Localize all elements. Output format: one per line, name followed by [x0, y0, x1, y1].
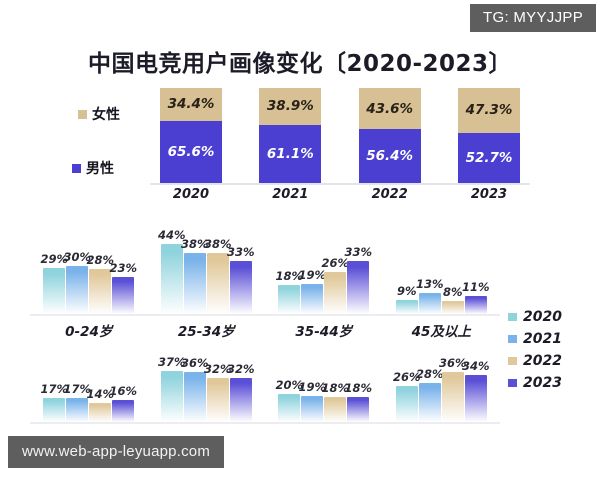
- bar-value-label: 11%: [462, 280, 490, 294]
- stacked-bar-column: 43.6%56.4%: [359, 88, 421, 183]
- year-legend-label: 2023: [523, 375, 562, 391]
- bar-2022: [442, 301, 464, 314]
- bar-slot: 17%: [43, 344, 65, 422]
- bar-2020: [161, 244, 183, 314]
- stacked-axis-line: [150, 183, 530, 185]
- age-x-axis-labels: 0-24岁25-34岁35-44岁45及以上: [30, 320, 500, 340]
- stacked-segment-male: 61.1%: [259, 125, 321, 183]
- year-legend-item-2021: 2021: [508, 328, 562, 350]
- bar-slot: 37%: [161, 344, 183, 422]
- bar-value-label: 23%: [109, 261, 137, 275]
- bar-2023: [112, 400, 134, 422]
- year-color-swatch: [508, 313, 517, 321]
- bar-slot: 20%: [278, 344, 300, 422]
- stacked-bars-area: 34.4%65.6%38.9%61.1%43.6%56.4%47.3%52.7%: [150, 88, 530, 183]
- bar-slot: 13%: [419, 214, 441, 314]
- bar-2022: [89, 269, 111, 314]
- male-color-swatch: [72, 164, 81, 173]
- age-grouped-chart: 29%30%28%23%44%38%38%33%18%19%26%33%9%13…: [30, 214, 500, 339]
- bar-2020: [278, 285, 300, 314]
- stacked-x-label: 2021: [259, 187, 321, 202]
- stacked-x-label: 2020: [160, 187, 222, 202]
- bar-group: 37%36%32%32%: [161, 344, 252, 422]
- stacked-segment-female: 43.6%: [359, 88, 421, 129]
- bar-slot: 23%: [112, 214, 134, 314]
- year-color-swatch: [508, 335, 517, 343]
- bar-2020: [43, 398, 65, 422]
- bar-value-label: 9%: [397, 284, 417, 298]
- bar-group: 9%13%8%11%: [396, 214, 487, 314]
- bar-slot: 44%: [161, 214, 183, 314]
- year-color-swatch: [508, 357, 517, 365]
- group-x-label: 25-34岁: [159, 320, 254, 340]
- bar-group: 29%30%28%23%: [43, 214, 134, 314]
- bar-2020: [278, 394, 300, 422]
- year-legend-item-2020: 2020: [508, 306, 562, 328]
- bar-2023: [112, 277, 134, 314]
- stacked-segment-male: 65.6%: [160, 121, 222, 183]
- bar-slot: 33%: [347, 214, 369, 314]
- stacked-x-label: 2022: [359, 187, 421, 202]
- bar-slot: 16%: [112, 344, 134, 422]
- bar-group: 18%19%26%33%: [278, 214, 369, 314]
- bar-slot: 32%: [207, 344, 229, 422]
- bar-value-label: 34%: [462, 359, 490, 373]
- bar-2023: [230, 378, 252, 422]
- female-color-swatch: [78, 110, 87, 119]
- bar-value-label: 8%: [443, 285, 463, 299]
- year-legend-item-2023: 2023: [508, 372, 562, 394]
- page-title: 中国电竞用户画像变化〔2020-2023〕: [0, 44, 600, 78]
- bar-value-label: 16%: [109, 384, 137, 398]
- year-legend: 2020202120222023: [508, 306, 562, 394]
- bar-2023: [347, 397, 369, 422]
- age-axis-line: [30, 314, 500, 316]
- age-bars-area: 29%30%28%23%44%38%38%33%18%19%26%33%9%13…: [30, 214, 500, 314]
- bar-2021: [301, 284, 323, 314]
- stacked-x-label: 2023: [458, 187, 520, 202]
- bar-slot: 38%: [207, 214, 229, 314]
- group-x-label: 45及以上: [394, 320, 489, 340]
- bar-slot: 9%: [396, 214, 418, 314]
- bar-value-label: 13%: [416, 277, 444, 291]
- year-legend-label: 2020: [523, 309, 562, 325]
- bar-value-label: 19%: [298, 268, 326, 282]
- bar-2020: [161, 371, 183, 422]
- bar-slot: 18%: [347, 344, 369, 422]
- site-watermark: www.web-app-leyuapp.com: [8, 436, 224, 468]
- stacked-bar-column: 47.3%52.7%: [458, 88, 520, 183]
- gender-stacked-chart: 女性 男性 34.4%65.6%38.9%61.1%43.6%56.4%47.3…: [0, 88, 600, 200]
- bar-slot: 11%: [465, 214, 487, 314]
- bar-slot: 29%: [43, 214, 65, 314]
- bar-2022: [89, 403, 111, 422]
- bar-2021: [301, 396, 323, 422]
- bar-slot: 32%: [230, 344, 252, 422]
- bar-2020: [396, 300, 418, 314]
- bar-2021: [66, 398, 88, 422]
- bar-slot: 36%: [442, 344, 464, 422]
- bar-2020: [43, 268, 65, 314]
- secondary-axis-line: [30, 422, 500, 424]
- bar-group: 44%38%38%33%: [161, 214, 252, 314]
- stacked-x-axis-labels: 2020202120222023: [150, 187, 530, 202]
- bar-slot: 30%: [66, 214, 88, 314]
- stacked-bar-column: 38.9%61.1%: [259, 88, 321, 183]
- group-x-label: 0-24岁: [41, 320, 136, 340]
- year-legend-item-2022: 2022: [508, 350, 562, 372]
- bar-slot: 8%: [442, 214, 464, 314]
- bar-slot: 36%: [184, 344, 206, 422]
- bar-2021: [419, 293, 441, 314]
- bar-2021: [66, 266, 88, 314]
- bar-2021: [419, 383, 441, 422]
- bar-slot: 28%: [89, 214, 111, 314]
- year-color-swatch: [508, 379, 517, 387]
- bar-slot: 26%: [324, 214, 346, 314]
- year-legend-label: 2021: [523, 331, 562, 347]
- bar-2023: [347, 261, 369, 314]
- bar-2023: [465, 296, 487, 314]
- stacked-segment-female: 47.3%: [458, 88, 520, 133]
- bar-slot: 19%: [301, 214, 323, 314]
- bar-slot: 38%: [184, 214, 206, 314]
- legend-item-male: 男性: [72, 158, 114, 178]
- bar-group: 20%19%18%18%: [278, 344, 369, 422]
- stacked-bar-column: 34.4%65.6%: [160, 88, 222, 183]
- bar-2022: [324, 272, 346, 314]
- year-legend-label: 2022: [523, 353, 562, 369]
- bar-value-label: 32%: [227, 362, 255, 376]
- bar-2021: [184, 253, 206, 314]
- bar-group: 26%28%36%34%: [396, 344, 487, 422]
- tg-badge: TG: MYYJJPP: [470, 4, 596, 32]
- bar-2021: [184, 372, 206, 422]
- secondary-grouped-chart: 17%17%14%16%37%36%32%32%20%19%18%18%26%2…: [30, 344, 500, 444]
- bar-slot: 17%: [66, 344, 88, 422]
- bar-slot: 14%: [89, 344, 111, 422]
- group-x-label: 35-44岁: [276, 320, 371, 340]
- bar-slot: 33%: [230, 214, 252, 314]
- bar-slot: 19%: [301, 344, 323, 422]
- stacked-segment-male: 56.4%: [359, 129, 421, 183]
- bar-value-label: 18%: [344, 381, 372, 395]
- bar-slot: 18%: [324, 344, 346, 422]
- bar-value-label: 33%: [227, 245, 255, 259]
- bar-slot: 18%: [278, 214, 300, 314]
- bar-slot: 26%: [396, 344, 418, 422]
- secondary-bars-area: 17%17%14%16%37%36%32%32%20%19%18%18%26%2…: [30, 344, 500, 422]
- stacked-segment-female: 34.4%: [160, 88, 222, 121]
- bar-2023: [230, 261, 252, 314]
- bar-slot: 34%: [465, 344, 487, 422]
- bar-2022: [207, 253, 229, 314]
- bar-2022: [442, 372, 464, 422]
- bar-2020: [396, 386, 418, 422]
- bar-2022: [207, 378, 229, 422]
- stacked-segment-female: 38.9%: [259, 88, 321, 125]
- bar-slot: 28%: [419, 344, 441, 422]
- bar-2023: [465, 375, 487, 422]
- legend-label-female: 女性: [92, 104, 120, 124]
- bar-2022: [324, 397, 346, 422]
- legend-label-male: 男性: [86, 158, 114, 178]
- bar-group: 17%17%14%16%: [43, 344, 134, 422]
- gender-legend: 女性 男性: [72, 88, 152, 183]
- bar-value-label: 33%: [344, 245, 372, 259]
- stacked-segment-male: 52.7%: [458, 133, 520, 183]
- legend-item-female: 女性: [78, 104, 120, 124]
